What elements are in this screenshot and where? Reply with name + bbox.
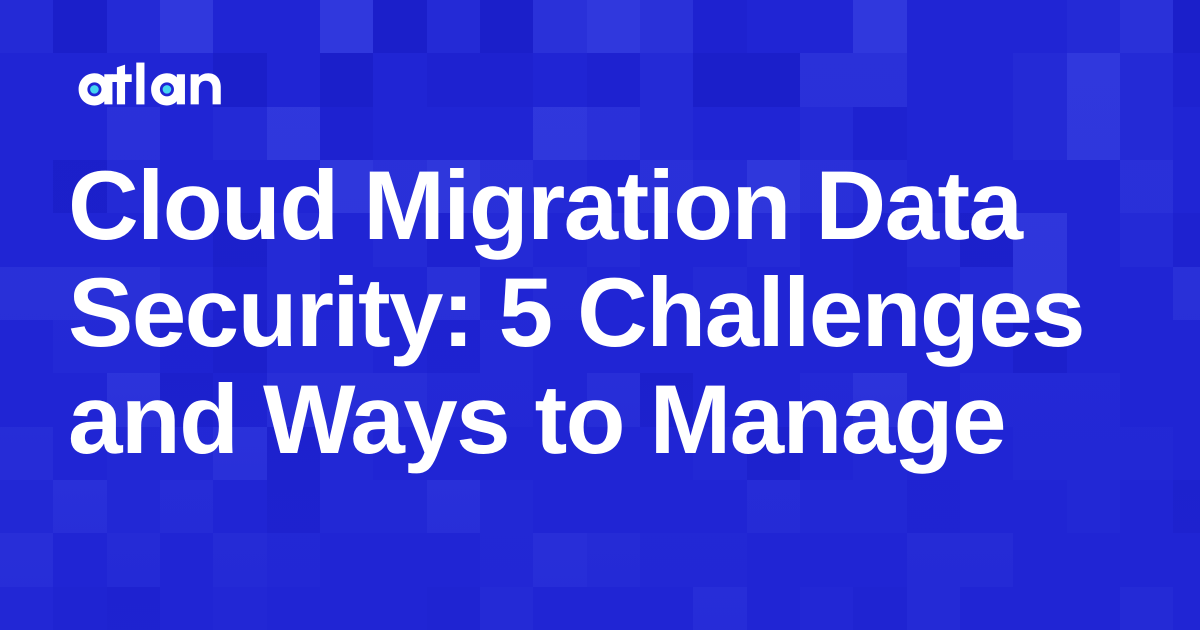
card-content: Cloud Migration Data Security: 5 Challen…	[0, 0, 1200, 630]
social-card: Cloud Migration Data Security: 5 Challen…	[0, 0, 1200, 630]
title-line-3: and Ways to Manage	[68, 366, 1078, 473]
title-line-1: Cloud Migration Data	[68, 152, 1078, 259]
page-title: Cloud Migration Data Security: 5 Challen…	[68, 152, 1078, 473]
atlan-logo	[74, 60, 233, 108]
title-line-2: Security: 5 Challenges	[68, 259, 1078, 366]
